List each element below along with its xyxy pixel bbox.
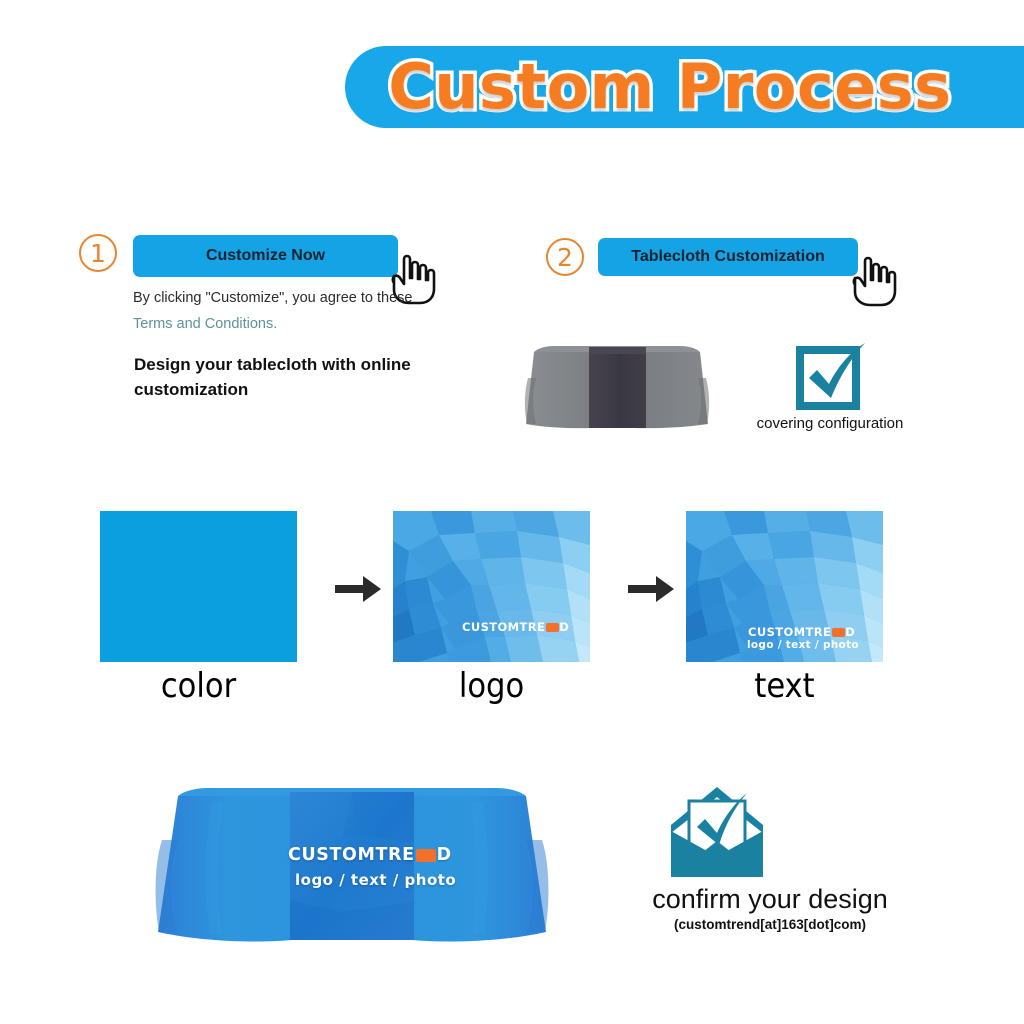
cloth-subline: logo / text / photo xyxy=(295,871,456,889)
step-badge-2: 2 xyxy=(546,238,584,276)
confirm-design-label: confirm your design xyxy=(560,884,980,915)
checkbox-checked-icon xyxy=(795,338,869,414)
wordmark-part-a: CUSTOMTRE xyxy=(748,625,831,639)
cloth-wordmark: CUSTOMTRED xyxy=(288,845,452,865)
panel-color-swatch xyxy=(100,511,297,662)
header-banner: Custom Process xyxy=(345,46,1024,128)
panel-label-text: text xyxy=(686,666,883,706)
panel-label-logo: logo xyxy=(393,666,590,706)
table-mark-icon xyxy=(416,849,436,862)
panel-label-color: color xyxy=(100,666,297,706)
mosaic-texture xyxy=(393,511,590,662)
design-heading: Design your tablecloth with online custo… xyxy=(134,352,434,402)
table-mark-icon xyxy=(832,628,845,637)
panel-logo-wordmark: CUSTOMTRED xyxy=(462,620,569,634)
disclaimer-prefix: By clicking "Customize", you agree to th… xyxy=(133,290,412,306)
disclaimer-text: By clicking "Customize", you agree to th… xyxy=(133,285,433,337)
wordmark-part-b: D xyxy=(437,845,452,865)
covering-configuration-label: covering configuration xyxy=(730,415,930,432)
customize-now-button[interactable]: Customize Now xyxy=(133,235,398,277)
confirm-email-text: (customtrend[at]163[dot]com) xyxy=(560,917,980,932)
table-mark-icon xyxy=(546,623,559,632)
right-arrow-icon xyxy=(628,574,674,604)
wordmark-part-b: D xyxy=(559,620,569,634)
page-title: Custom Process xyxy=(388,56,991,118)
gray-tablecloth-preview xyxy=(518,338,716,430)
custom-process-infographic: Custom Process 1 Customize Now By clicki… xyxy=(0,0,1024,1024)
envelope-check-icon xyxy=(667,783,767,881)
panel-text-wordmark: CUSTOMTRED xyxy=(748,625,855,639)
step-badge-1: 1 xyxy=(79,234,117,272)
finished-tablecloth-preview xyxy=(152,782,552,952)
panel-text-subline: logo / text / photo xyxy=(747,639,859,651)
tablecloth-customization-button[interactable]: Tablecloth Customization xyxy=(598,238,858,276)
wordmark-part-b: D xyxy=(845,625,855,639)
wordmark-part-a: CUSTOMTRE xyxy=(288,845,415,865)
terms-and-conditions-link[interactable]: Terms and Conditions. xyxy=(133,316,277,332)
panel-logo-swatch xyxy=(393,511,590,662)
right-arrow-icon xyxy=(335,574,381,604)
wordmark-part-a: CUSTOMTRE xyxy=(462,620,545,634)
pointing-hand-cursor-icon xyxy=(845,248,901,308)
